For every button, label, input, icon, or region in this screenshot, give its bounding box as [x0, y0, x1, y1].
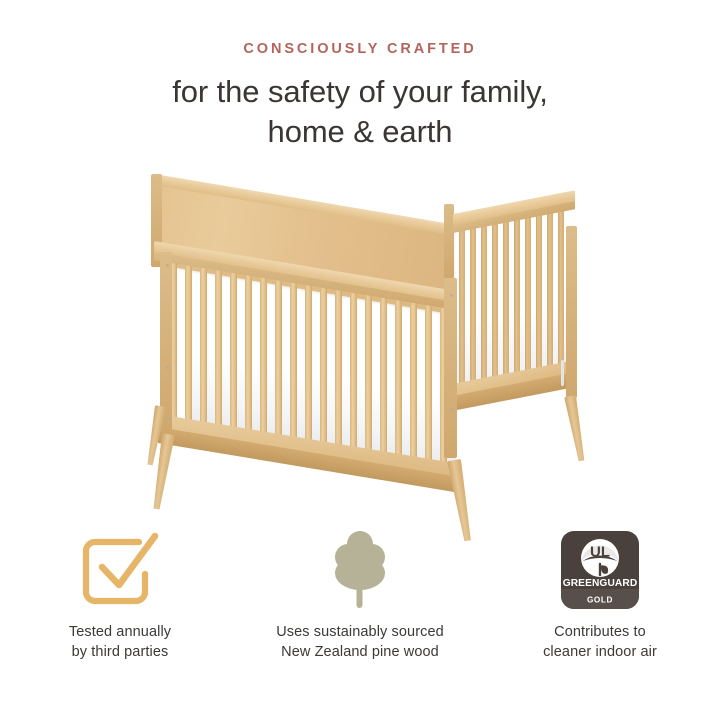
crib-mattress-tag: [561, 360, 564, 386]
badge-level: GOLD: [587, 596, 613, 605]
feature-row: Tested annually by third parties Uses su…: [0, 528, 720, 688]
feature-tested-annually: Tested annually by third parties: [0, 528, 240, 688]
crib-rear-right-leg: [564, 395, 587, 462]
feature-sustainable-wood: Uses sustainably sourced New Zealand pin…: [240, 528, 480, 688]
crib-front-left-post: [160, 252, 172, 432]
product-image: [0, 160, 720, 520]
crib-hardware-screw: [166, 418, 169, 421]
feature-caption: Uses sustainably sourced New Zealand pin…: [276, 622, 444, 662]
headline-line-2: home & earth: [0, 112, 720, 152]
badge-title: GREENGUARD: [563, 578, 638, 589]
feature-caption: Contributes to cleaner indoor air: [543, 622, 657, 662]
crib-rear-right-post: [566, 226, 577, 398]
crib-illustration: [148, 168, 580, 518]
crib-hardware-screw: [450, 294, 453, 297]
ul-mark: UL: [590, 544, 610, 561]
feature-caption: Tested annually by third parties: [69, 622, 171, 662]
tree-icon: [322, 528, 398, 612]
checkbox-check-icon: [77, 528, 163, 612]
headline-line-1: for the safety of your family,: [0, 72, 720, 112]
feature-clean-air: UL GREENGUARD GOLD Contributes to cleane…: [480, 528, 720, 688]
eyebrow-text: CONSCIOUSLY CRAFTED: [0, 41, 720, 57]
crib-hardware-screw: [166, 366, 169, 369]
crib-hardware-screw: [450, 408, 453, 411]
infographic-page: CONSCIOUSLY CRAFTED for the safety of yo…: [0, 0, 720, 720]
crib-hardware-screw: [166, 264, 169, 267]
page-title: for the safety of your family, home & ea…: [0, 72, 720, 152]
crib-front-right-post: [444, 278, 457, 458]
greenguard-gold-badge-icon: UL GREENGUARD GOLD: [561, 528, 639, 612]
